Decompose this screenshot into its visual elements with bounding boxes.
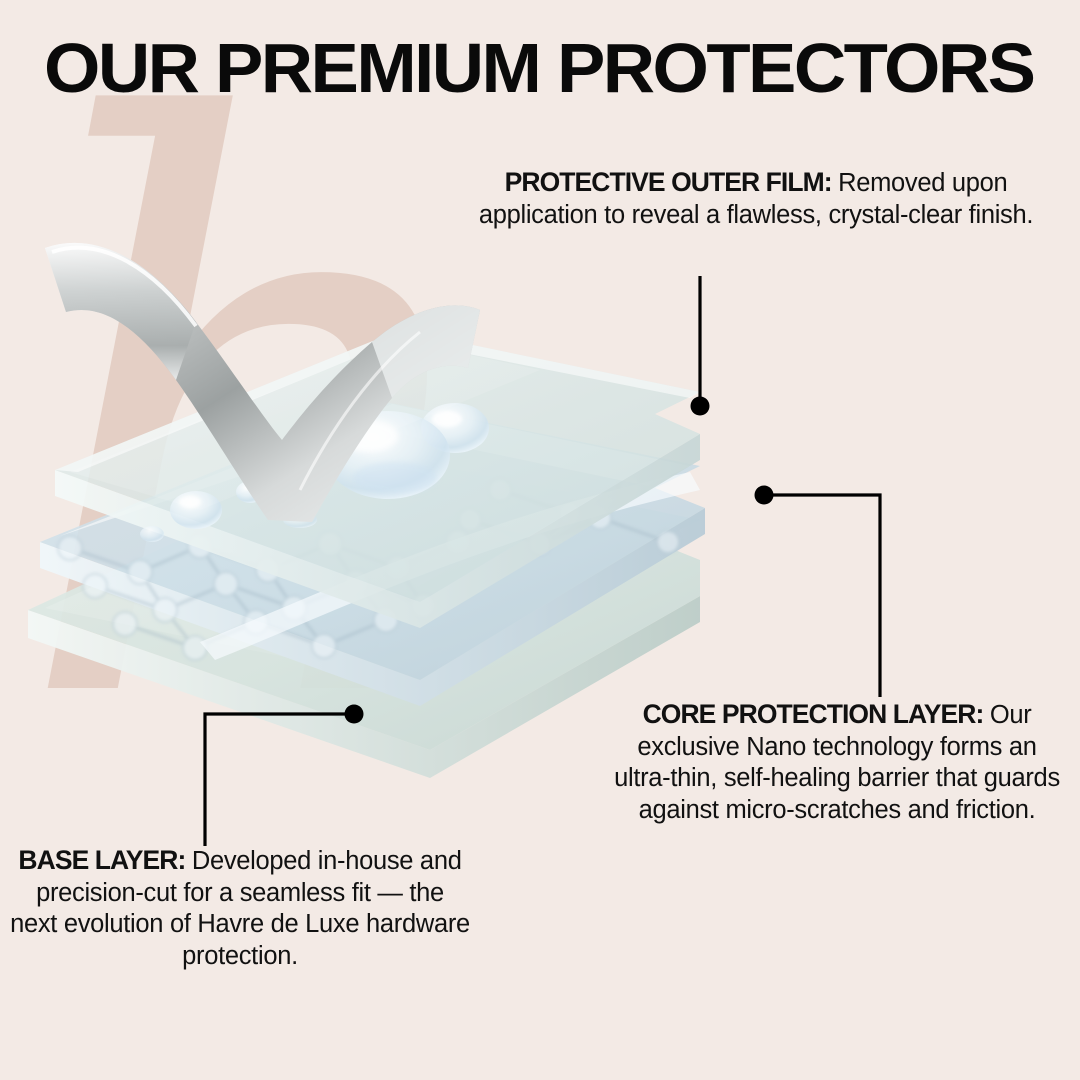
annotation-label-core: CORE PROTECTION LAYER: <box>643 699 990 729</box>
infographic-canvas: h <box>0 0 1080 1080</box>
annotation-core-protection-layer: CORE PROTECTION LAYER: Our exclusive Nan… <box>608 698 1066 826</box>
annotation-base-layer: BASE LAYER: Developed in-house and preci… <box>10 844 470 972</box>
page-title: OUR PREMIUM PROTECTORS <box>44 33 1075 103</box>
annotation-protective-outer-film: PROTECTIVE OUTER FILM: Removed upon appl… <box>470 166 1042 231</box>
annotation-label-film: PROTECTIVE OUTER FILM: <box>505 167 838 197</box>
annotation-label-base: BASE LAYER: <box>18 845 191 875</box>
